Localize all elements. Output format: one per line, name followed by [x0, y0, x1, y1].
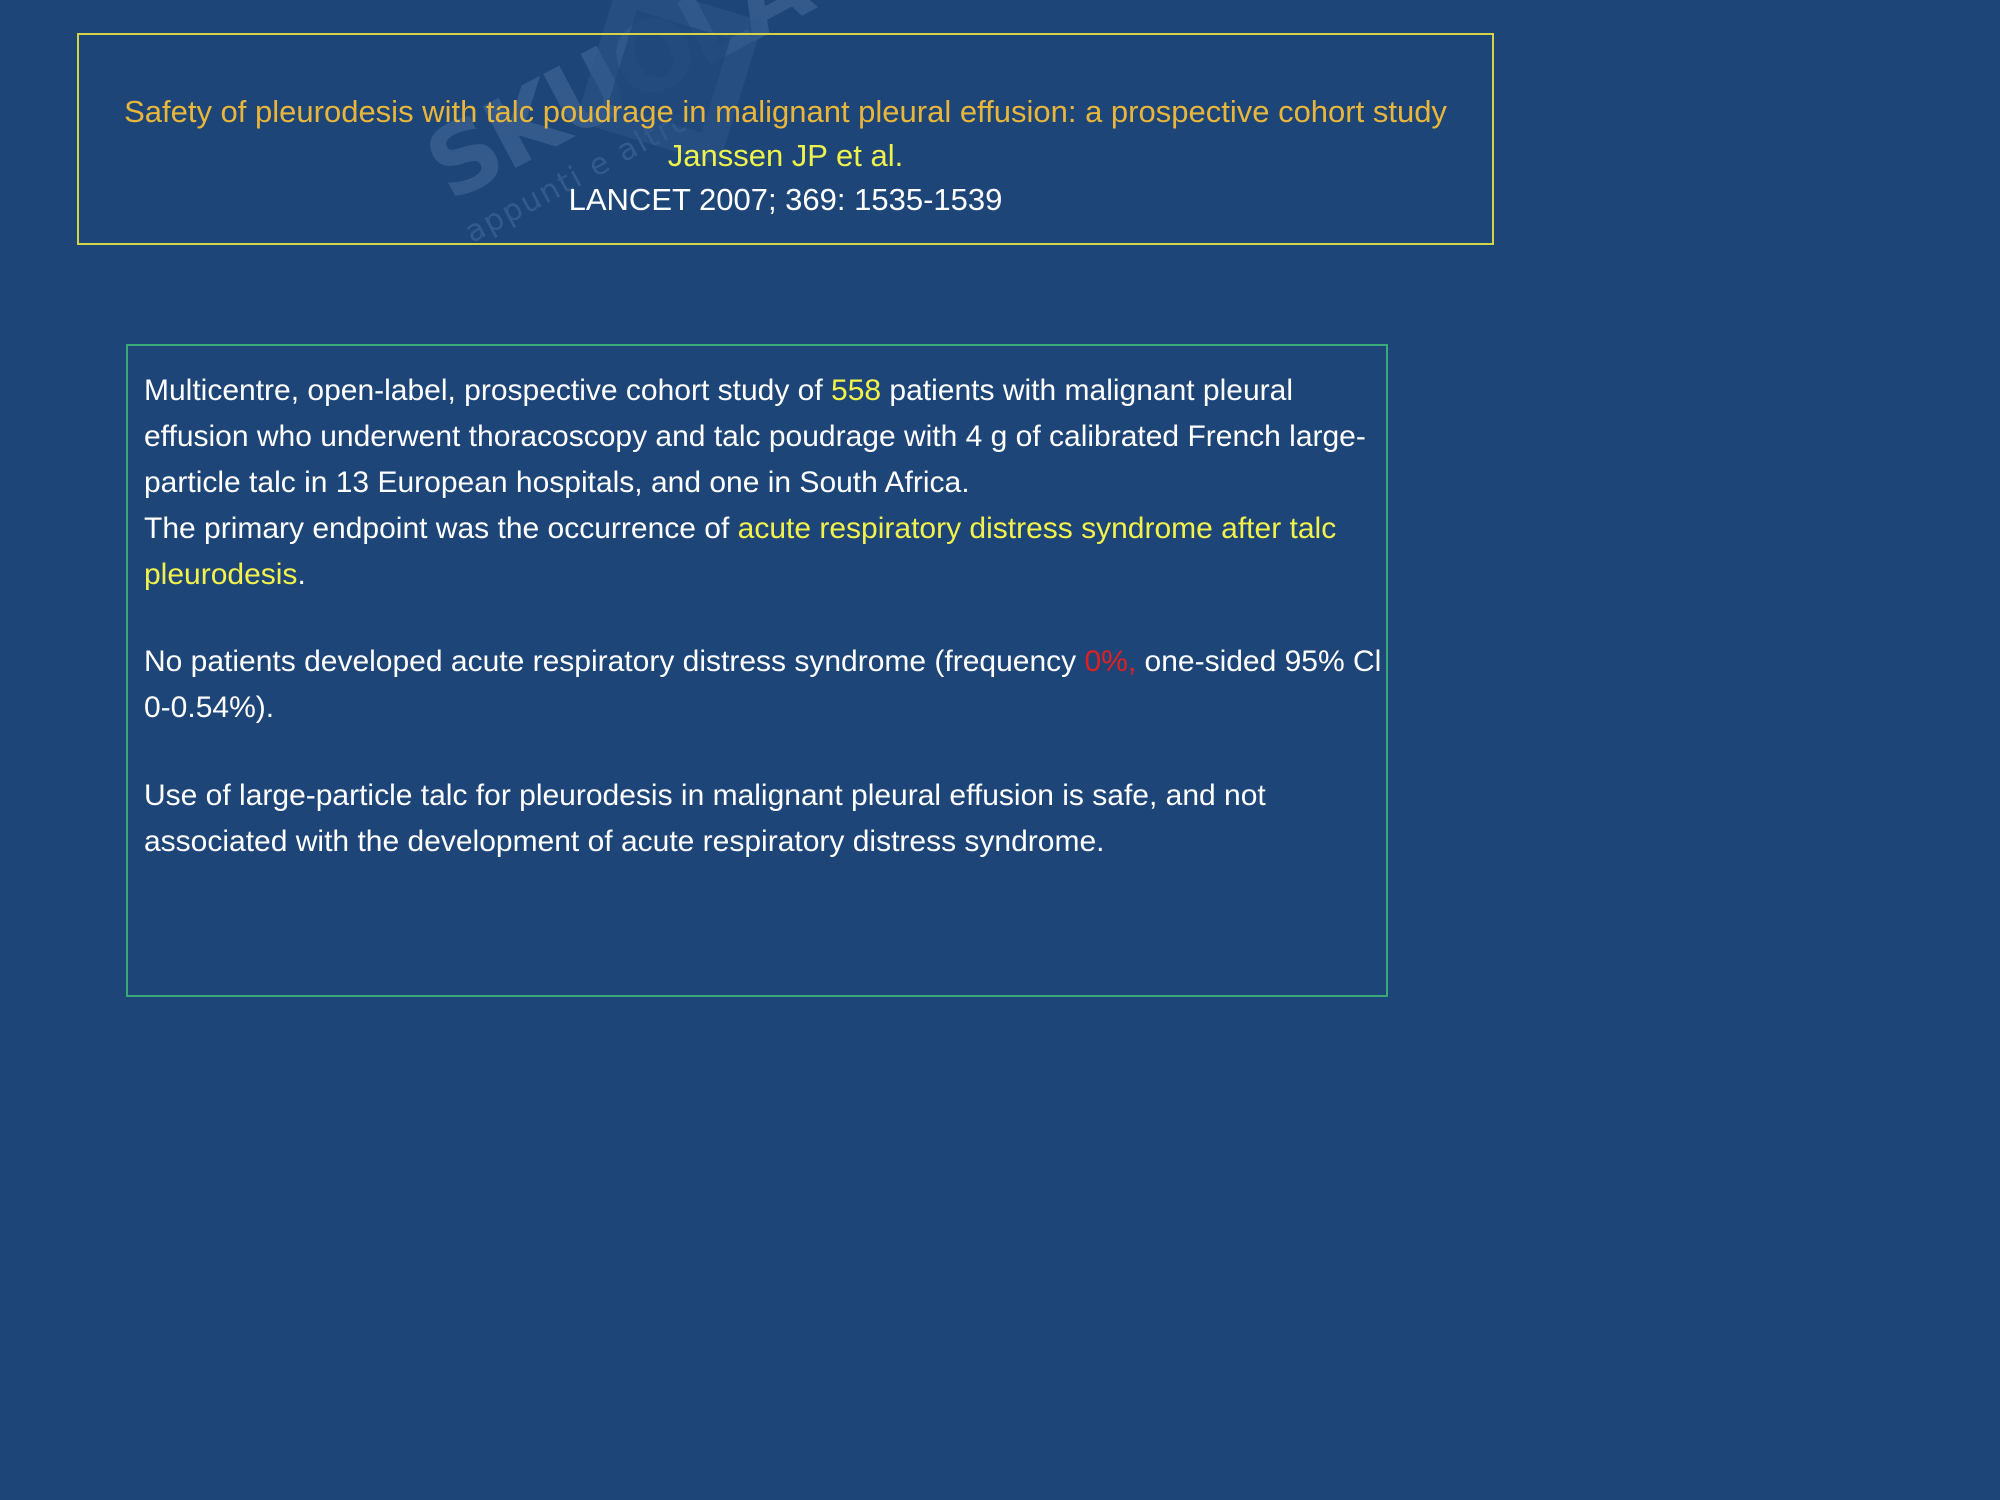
endpoint-text-1: The primary endpoint was the occurrence …	[144, 512, 738, 545]
slide-background: SKUOLA appunti e altro Safety of pleurod…	[0, 0, 2000, 1500]
paragraph-methods: Multicentre, open-label, prospective coh…	[144, 368, 1386, 597]
title-box: Safety of pleurodesis with talc poudrage…	[77, 33, 1494, 245]
conclusion-text: Use of large-particle talc for pleurodes…	[144, 779, 1266, 858]
results-text-1: No patients developed acute respiratory …	[144, 645, 1084, 678]
study-authors: Janssen JP et al.	[107, 134, 1464, 178]
patient-count-highlight: 558	[831, 374, 881, 407]
paragraph-conclusion: Use of large-particle talc for pleurodes…	[144, 773, 1386, 865]
endpoint-text-2: .	[297, 558, 305, 591]
paragraph-results: No patients developed acute respiratory …	[144, 639, 1386, 731]
frequency-zero-highlight: 0%,	[1084, 645, 1136, 678]
study-title: Safety of pleurodesis with talc poudrage…	[107, 90, 1464, 134]
content-box: Multicentre, open-label, prospective coh…	[126, 344, 1388, 997]
study-citation: LANCET 2007; 369: 1535-1539	[107, 178, 1464, 222]
methods-text-1: Multicentre, open-label, prospective coh…	[144, 374, 831, 407]
